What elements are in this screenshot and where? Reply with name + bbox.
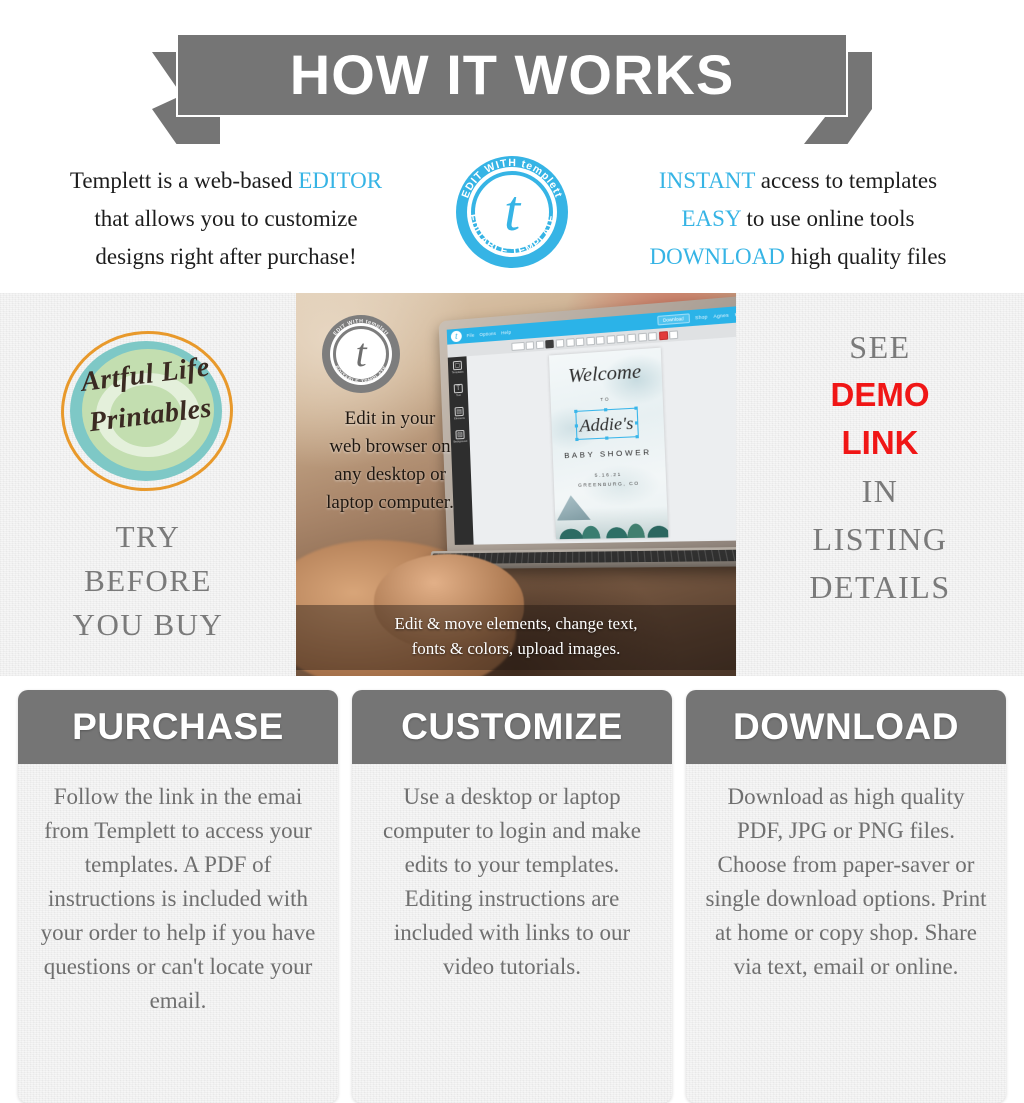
intro-right-line3-highlight: DOWNLOAD	[649, 244, 784, 269]
editor-logo-icon: t	[451, 330, 462, 342]
templett-badge-icon: EDIT WITH templett EDITABLE TEMPLATE t	[456, 156, 568, 268]
intro-right-line2-plain: to use online tools	[741, 206, 915, 231]
badge-t-glyph: t	[456, 182, 568, 240]
intro-left-line-3: designs right after purchase!	[0, 238, 452, 276]
align-left-button[interactable]	[586, 336, 595, 345]
resize-handle-middle-right[interactable]	[635, 421, 638, 424]
editor-body: ▢ Templates T Text ▤ Elements	[448, 336, 736, 545]
intro-left-line-1: Templett is a web-based EDITOR	[0, 162, 452, 200]
resize-handle-top-right[interactable]	[634, 407, 637, 410]
ribbon-bar: HOW IT WORKS	[176, 33, 848, 117]
editor-menu-help-right[interactable]: Help	[735, 311, 736, 317]
copy-button[interactable]	[648, 331, 657, 340]
text-icon: T	[454, 384, 463, 394]
middle-section: Artful Life Printables TRY BEFORE YOU BU…	[0, 293, 1024, 676]
templates-icon: ▢	[453, 361, 462, 371]
sidebar-item-templates[interactable]: ▢ Templates	[451, 361, 463, 375]
sidebar-item-text[interactable]: T Text	[454, 384, 463, 398]
step-body-download: Download as high quality PDF, JPG or PNG…	[686, 764, 1006, 1103]
resize-handle-top-middle[interactable]	[604, 409, 607, 412]
editor-menu-file[interactable]: File	[467, 332, 475, 338]
photo-caption-line-2: web browser on	[306, 433, 474, 461]
step-card-customize: CUSTOMIZE Use a desktop or laptop comput…	[352, 690, 672, 1103]
step-title-purchase: PURCHASE	[18, 690, 338, 764]
laptop-lid: t File Options Help Download Shop Agnes …	[439, 295, 736, 557]
resize-handle-bottom-right[interactable]	[636, 435, 639, 438]
resize-handle-bottom-middle[interactable]	[605, 436, 608, 439]
try-before-you-buy-text: TRY BEFORE YOU BUY	[73, 515, 224, 647]
step-body-purchase: Follow the link in the emai from Templet…	[18, 764, 338, 1103]
rotate-button[interactable]	[617, 334, 626, 343]
card-name-selection[interactable]: Addie's	[575, 408, 639, 440]
text-label: Text	[456, 394, 461, 397]
photo-strip-line-1: Edit & move elements, change text,	[296, 611, 736, 636]
align-right-button[interactable]	[606, 335, 615, 344]
intro-right-line-2: EASY to use online tools	[572, 200, 1024, 238]
demo-line-link[interactable]: LINK	[809, 419, 950, 467]
intro-right-line2-highlight: EASY	[682, 206, 741, 231]
intro-text-right: INSTANT access to templates EASY to use …	[572, 150, 1024, 276]
photo-caption: Edit in your web browser on any desktop …	[306, 405, 474, 517]
demo-line-listing: LISTING	[809, 515, 950, 563]
photo-badge-t-glyph: t	[322, 333, 400, 373]
artful-life-printables-logo: Artful Life Printables	[56, 329, 240, 495]
editor-menu-account[interactable]: Agnes	[713, 312, 729, 319]
demo-line-demo[interactable]: DEMO	[809, 371, 950, 419]
intro-left-line1-highlight: EDITOR	[298, 168, 382, 193]
templates-label: Templates	[452, 371, 464, 375]
photo-strip-line-2: fonts & colors, upload images.	[296, 636, 736, 661]
intro-right-line-3: DOWNLOAD high quality files	[572, 238, 1024, 276]
step-body-customize: Use a desktop or laptop computer to logi…	[352, 764, 672, 1103]
italic-button[interactable]	[566, 338, 575, 347]
header-banner: HOW IT WORKS	[0, 0, 1024, 150]
editor-menu-help[interactable]: Help	[501, 330, 511, 336]
demo-line-in: IN	[809, 467, 950, 515]
photo-caption-line-4: laptop computer.	[306, 489, 474, 517]
how-it-works-infographic: HOW IT WORKS Templett is a web-based EDI…	[0, 0, 1024, 1103]
more-button[interactable]	[669, 330, 678, 339]
font-family-select[interactable]	[511, 341, 525, 350]
editor-canvas[interactable]: Welcome TO Addie's	[466, 336, 736, 545]
bold-button[interactable]	[556, 338, 565, 347]
layer-button[interactable]	[638, 332, 647, 341]
editor-menu-options[interactable]: Options	[479, 331, 496, 337]
try-line-2: BEFORE	[73, 559, 224, 603]
laptop-photo: t File Options Help Download Shop Agnes …	[296, 293, 736, 676]
intro-left-line1-plain: Templett is a web-based	[70, 168, 298, 193]
align-center-button[interactable]	[596, 335, 605, 344]
intro-strip: Templett is a web-based EDITOR that allo…	[0, 150, 1024, 293]
ribbon: HOW IT WORKS	[0, 28, 1024, 144]
delete-button[interactable]	[659, 331, 668, 340]
intro-right-line1-plain: access to templates	[755, 168, 937, 193]
text-color-swatch[interactable]	[546, 339, 555, 348]
photo-caption-line-3: any desktop or	[306, 461, 474, 489]
resize-handle-top-left[interactable]	[574, 410, 577, 413]
photo-caption-line-1: Edit in your	[306, 405, 474, 433]
template-card[interactable]: Welcome TO Addie's	[548, 348, 667, 540]
intro-text-left: Templett is a web-based EDITOR that allo…	[0, 150, 452, 276]
step-card-purchase: PURCHASE Follow the link in the emai fro…	[18, 690, 338, 1103]
right-panel: SEE DEMO LINK IN LISTING DETAILS	[736, 293, 1024, 676]
editor-download-button[interactable]: Download	[657, 313, 689, 326]
try-line-3: YOU BUY	[73, 603, 224, 647]
step-title-customize: CUSTOMIZE	[352, 690, 672, 764]
underline-button[interactable]	[576, 337, 585, 346]
intro-right-line1-highlight: INSTANT	[659, 168, 755, 193]
templett-badge-wrapper: EDIT WITH templett EDITABLE TEMPLATE t	[452, 150, 572, 268]
photo-templett-badge-icon: EDIT WITH templett EDITABLE TEMPLATE t	[322, 315, 400, 393]
demo-line-see: SEE	[809, 323, 950, 371]
resize-handle-middle-left[interactable]	[575, 424, 578, 427]
photo-templett-badge-wrapper: EDIT WITH templett EDITABLE TEMPLATE t	[322, 315, 400, 393]
intro-right-line-1: INSTANT access to templates	[572, 162, 1024, 200]
try-line-1: TRY	[73, 515, 224, 559]
demo-link-text: SEE DEMO LINK IN LISTING DETAILS	[809, 323, 950, 611]
step-card-download: DOWNLOAD Download as high quality PDF, J…	[686, 690, 1006, 1103]
left-panel: Artful Life Printables TRY BEFORE YOU BU…	[0, 293, 296, 676]
opacity-button[interactable]	[627, 333, 636, 342]
steps-section: PURCHASE Follow the link in the emai fro…	[0, 676, 1024, 1103]
intro-right-line3-plain: high quality files	[785, 244, 947, 269]
font-size-input[interactable]	[526, 341, 535, 350]
demo-line-details: DETAILS	[809, 563, 950, 611]
laptop-screen: t File Options Help Download Shop Agnes …	[447, 305, 736, 545]
card-trees-graphic	[554, 493, 668, 540]
line-height-button[interactable]	[536, 340, 545, 349]
resize-handle-bottom-left[interactable]	[575, 437, 578, 440]
intro-left-line-2: that allows you to customize	[0, 200, 452, 238]
page-title: HOW IT WORKS	[290, 47, 734, 103]
step-title-download: DOWNLOAD	[686, 690, 1006, 764]
editor-menu-shop[interactable]: Shop	[695, 314, 708, 320]
photo-bottom-caption: Edit & move elements, change text, fonts…	[296, 605, 736, 670]
